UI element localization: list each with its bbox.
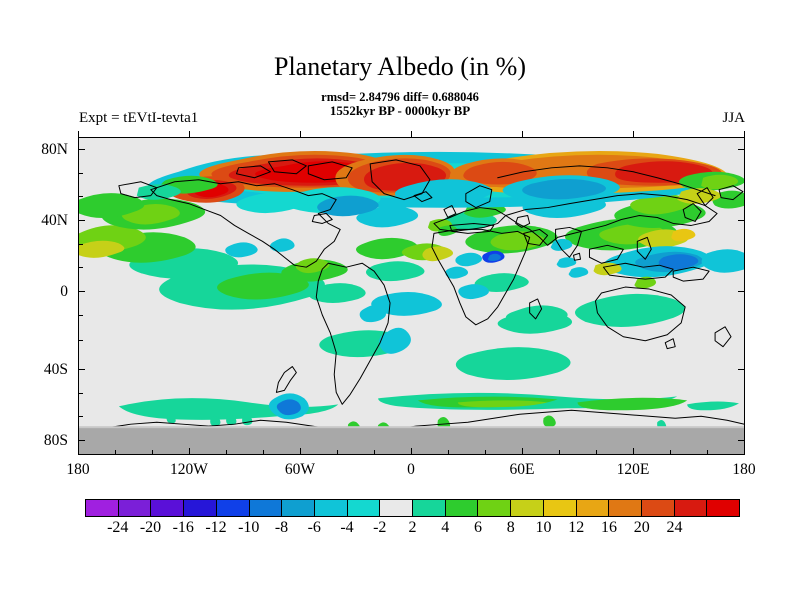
x-axis-label-180w: 180 (43, 461, 113, 479)
colorbar-swatch-11 (446, 500, 479, 516)
x-axis-tick-major (78, 448, 79, 455)
y-axis-tick-major-right (738, 291, 745, 292)
y-axis-tick-major (78, 369, 85, 370)
colorbar-swatch-17 (642, 500, 675, 516)
colorbar-swatch-16 (609, 500, 642, 516)
x-axis-tick-major-top (522, 131, 523, 138)
x-axis-tick-minor (226, 450, 227, 455)
colorbar-swatch-3 (184, 500, 217, 516)
y-axis-label-40s: 40S (14, 361, 68, 379)
y-axis-label-0: 0 (14, 283, 68, 301)
season-label: JJA (0, 110, 745, 127)
x-axis-tick-major (411, 448, 412, 455)
y-axis-tick-minor (78, 340, 83, 341)
colorbar-swatch-0 (86, 500, 119, 516)
x-axis-tick-minor (448, 450, 449, 455)
x-axis-tick-minor (670, 450, 671, 455)
x-axis-tick-major (189, 448, 190, 455)
x-axis-tick-major (300, 448, 301, 455)
x-axis-tick-major-top (300, 131, 301, 138)
x-axis-tick-minor (152, 450, 153, 455)
x-axis-tick-minor (337, 450, 338, 455)
x-axis-tick-minor (559, 450, 560, 455)
x-axis-tick-minor (115, 450, 116, 455)
y-axis-label-80s: 80S (14, 432, 68, 450)
x-axis-label-60e: 60E (487, 461, 557, 479)
y-axis-tick-minor (78, 315, 83, 316)
x-axis-tick-major-top (744, 131, 745, 138)
colorbar-swatch-2 (151, 500, 184, 516)
y-axis-label-80n: 80N (14, 141, 68, 159)
x-axis-tick-minor (596, 450, 597, 455)
map-contours (79, 138, 744, 454)
x-axis-label-180e: 180 (709, 461, 779, 479)
colorbar-swatch-7 (315, 500, 348, 516)
x-axis-label-120w: 120W (154, 461, 224, 479)
y-axis-tick-major-right (738, 369, 745, 370)
y-axis-tick-minor (78, 416, 83, 417)
y-axis-tick-major (78, 440, 85, 441)
colorbar-swatch-4 (217, 500, 250, 516)
y-axis-tick-major-right (738, 149, 745, 150)
colorbar-swatch-18 (675, 500, 708, 516)
x-axis-tick-major (633, 448, 634, 455)
y-axis-tick-minor (78, 196, 83, 197)
y-axis-tick-minor (78, 173, 83, 174)
colorbar (85, 499, 740, 517)
map-plot-area (78, 137, 745, 455)
colorbar-swatch-19 (707, 500, 739, 516)
colorbar-swatch-5 (250, 500, 283, 516)
x-axis-tick-major-top (411, 131, 412, 138)
colorbar-swatch-6 (282, 500, 315, 516)
x-axis-tick-minor (707, 450, 708, 455)
colorbar-swatch-14 (544, 500, 577, 516)
x-axis-tick-major (744, 448, 745, 455)
page-title: Planetary Albedo (in %) (0, 52, 800, 82)
x-axis-label-60w: 60W (265, 461, 335, 479)
colorbar-swatch-15 (577, 500, 610, 516)
x-axis-tick-major-top (189, 131, 190, 138)
y-axis-tick-minor (78, 267, 83, 268)
y-axis-label-40n: 40N (14, 212, 68, 230)
colorbar-swatch-12 (478, 500, 511, 516)
colorbar-tick-24: 24 (652, 519, 698, 537)
colorbar-swatch-13 (511, 500, 544, 516)
x-axis-tick-minor (485, 450, 486, 455)
x-axis-label-120e: 120E (598, 461, 668, 479)
colorbar-swatch-1 (119, 500, 152, 516)
y-axis-tick-major (78, 291, 85, 292)
y-axis-tick-major-right (738, 220, 745, 221)
x-axis-tick-minor (263, 450, 264, 455)
y-axis-tick-major (78, 149, 85, 150)
colorbar-swatch-10 (413, 500, 446, 516)
y-axis-tick-minor (78, 393, 83, 394)
colorbar-swatch-8 (348, 500, 381, 516)
x-axis-tick-major-top (78, 131, 79, 138)
x-axis-tick-major-top (633, 131, 634, 138)
x-axis-tick-major (522, 448, 523, 455)
y-axis-tick-major-right (738, 440, 745, 441)
x-axis-label-0: 0 (376, 461, 446, 479)
figure-canvas: Planetary Albedo (in %) rmsd= 2.84796 di… (0, 0, 800, 600)
colorbar-swatch-9 (380, 500, 413, 516)
y-axis-tick-major (78, 220, 85, 221)
y-axis-tick-minor (78, 244, 83, 245)
x-axis-tick-minor (374, 450, 375, 455)
